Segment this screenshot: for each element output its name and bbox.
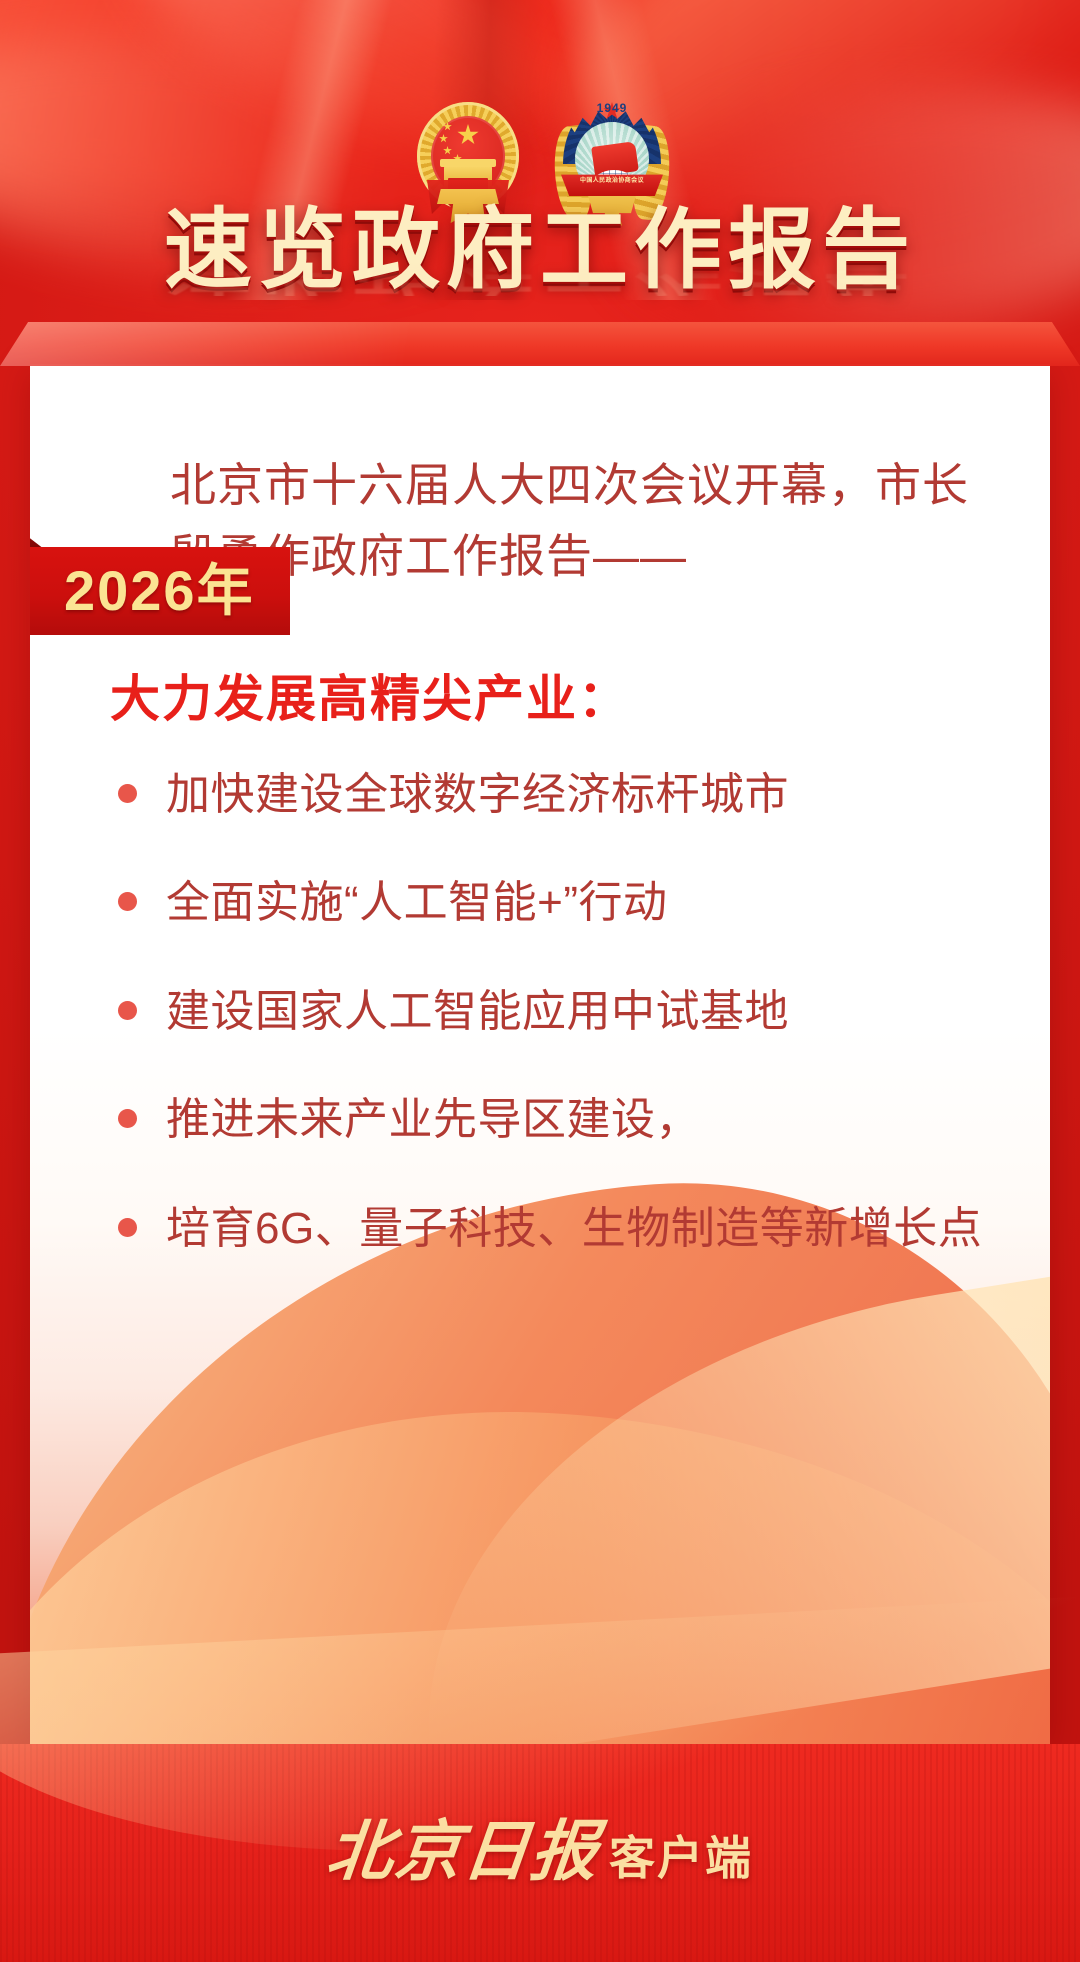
cppcc-ribbon-label: 中国人民政治协商会议	[561, 178, 663, 184]
list-item: 加快建设全球数字经济标杆城市	[108, 764, 996, 826]
list-item: 推进未来产业先导区建设，	[108, 1089, 996, 1151]
poster: 1949 中国人民政治协商会议 速览政府工作报告 速览政府工作报告 北京市十六届…	[0, 0, 1080, 1962]
list-item: 建设国家人工智能应用中试基地	[108, 981, 996, 1043]
list-item: 培育6G、量子科技、生物制造等新增长点	[108, 1198, 996, 1260]
bullet-dot-icon	[118, 1001, 137, 1020]
bullet-list: 加快建设全球数字经济标杆城市 全面实施“人工智能+”行动 建设国家人工智能应用中…	[108, 764, 996, 1306]
brand-logo: 北京日报 客户端	[0, 1820, 1080, 1886]
list-item: 全面实施“人工智能+”行动	[108, 872, 996, 934]
bullet-dot-icon	[118, 892, 137, 911]
list-item-text: 全面实施“人工智能+”行动	[166, 878, 668, 927]
list-item-text: 推进未来产业先导区建设，	[166, 1095, 700, 1144]
year-badge-label: 2026年	[30, 563, 290, 619]
year-badge: 2026年	[30, 547, 290, 635]
year-badge-fold	[30, 523, 44, 549]
list-item-text: 加快建设全球数字经济标杆城市	[166, 770, 789, 819]
list-item-text: 建设国家人工智能应用中试基地	[166, 987, 789, 1036]
footer: 北京日报 客户端	[0, 1744, 1080, 1962]
section-heading: 大力发展高精尖产业：	[110, 669, 990, 729]
card-top-bevel	[0, 322, 1080, 366]
meeting-subtitle: 北京市十六届人大四次会议开幕，市长殷勇作政府工作报告——	[170, 450, 980, 593]
bullet-dot-icon	[118, 784, 137, 803]
content-card: 北京市十六届人大四次会议开幕，市长殷勇作政府工作报告—— 2026年 大力发展高…	[30, 364, 1050, 1746]
brand-name: 北京日报	[324, 1820, 603, 1886]
bullet-dot-icon	[118, 1109, 137, 1128]
bullet-dot-icon	[118, 1218, 137, 1237]
list-item-text: 培育6G、量子科技、生物制造等新增长点	[166, 1204, 982, 1253]
page-title-reflection: 速览政府工作报告	[0, 248, 1080, 296]
cppcc-year-label: 1949	[553, 102, 671, 114]
brand-suffix: 客户端	[609, 1835, 753, 1881]
